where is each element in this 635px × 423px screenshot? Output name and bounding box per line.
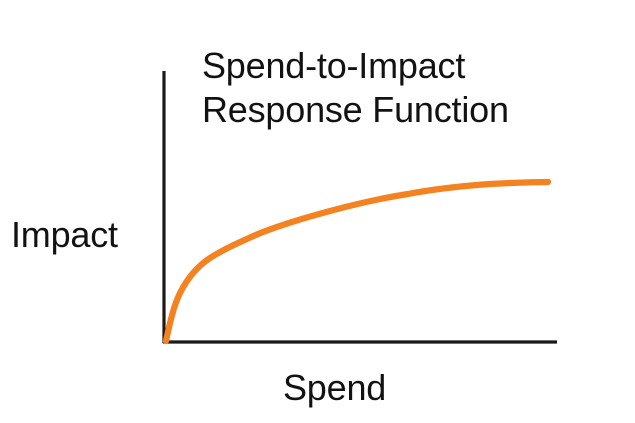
x-axis-label: Spend (283, 366, 386, 410)
response-curve (166, 182, 548, 341)
y-axis-label: Impact (11, 213, 118, 257)
chart-title-line-1: Spend-to-Impact (202, 44, 509, 88)
chart-title: Spend-to-Impact Response Function (202, 44, 509, 132)
chart-title-line-2: Response Function (202, 88, 509, 132)
chart-figure: Spend-to-Impact Response Function Impact… (0, 0, 635, 423)
